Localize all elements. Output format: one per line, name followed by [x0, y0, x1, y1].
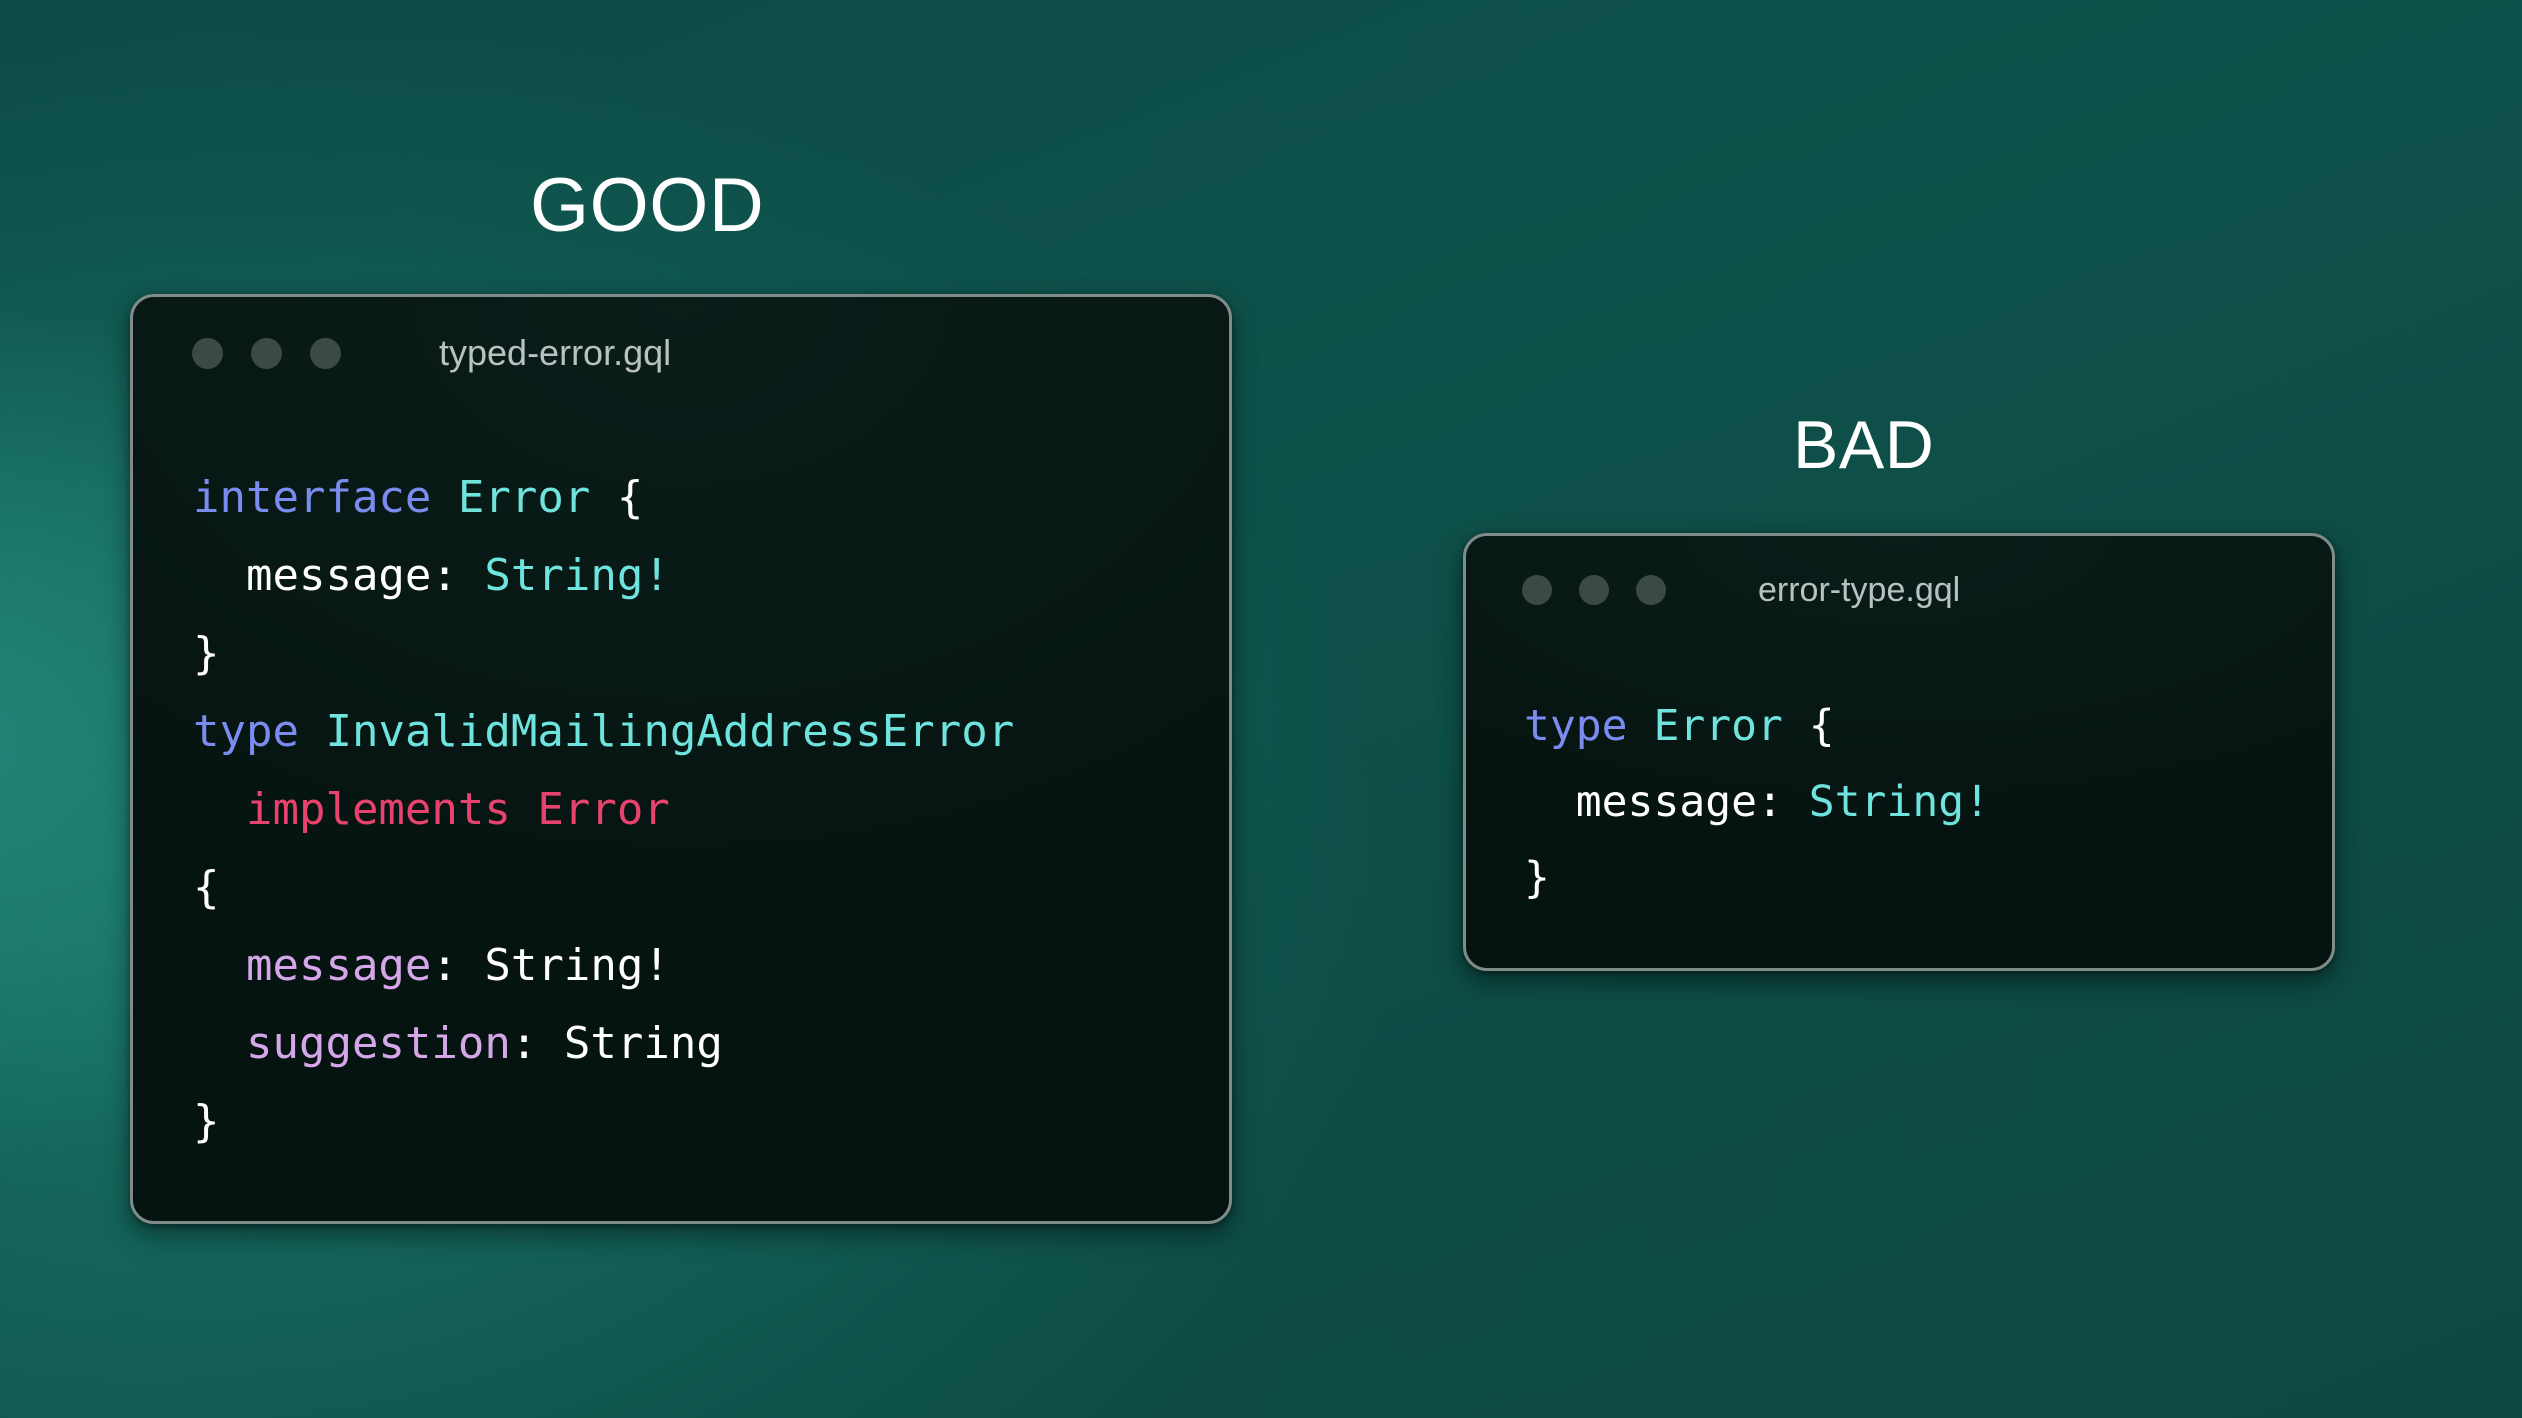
- code-token-keyword: interface: [193, 472, 431, 523]
- code-token-implements: implements Error: [246, 784, 670, 835]
- code-token-space: [590, 472, 617, 523]
- code-token-field-purple: suggestion: [246, 1018, 511, 1069]
- maximize-dot-icon[interactable]: [1636, 575, 1666, 605]
- code-token-scalar: String!: [484, 550, 669, 601]
- code-line: }: [1524, 840, 2332, 916]
- code-line: suggestion: String: [193, 1005, 1229, 1083]
- close-dot-icon[interactable]: [1522, 575, 1552, 605]
- code-token-keyword: type: [1524, 701, 1628, 751]
- code-token-space: [193, 550, 246, 601]
- heading-bad: BAD: [1793, 411, 1934, 479]
- code-line: type InvalidMailingAddressError: [193, 693, 1229, 771]
- code-line: {: [193, 849, 1229, 927]
- code-token-space: [1783, 701, 1809, 751]
- code-line: interface Error {: [193, 459, 1229, 537]
- code-token-punctuation: {: [193, 862, 220, 913]
- code-token-type: InvalidMailingAddressError: [325, 706, 1014, 757]
- minimize-dot-icon[interactable]: [251, 338, 282, 369]
- code-line: message: String!: [1524, 764, 2332, 840]
- code-token-space: [431, 472, 458, 523]
- code-token-punctuation: {: [617, 472, 644, 523]
- code-token-punctuation: :: [511, 1018, 564, 1069]
- code-token-punctuation: }: [1524, 853, 1550, 903]
- traffic-light-dots: [1522, 575, 1693, 605]
- code-token-type: Error: [458, 472, 590, 523]
- window-titlebar: typed-error.gql: [133, 297, 1229, 409]
- code-window-bad: error-type.gql type Error { message: Str…: [1463, 533, 2335, 971]
- code-token-space: [193, 1018, 246, 1069]
- traffic-light-dots: [192, 338, 369, 369]
- code-token-punctuation: }: [193, 1096, 220, 1147]
- window-titlebar: error-type.gql: [1466, 536, 2332, 644]
- code-token-keyword: type: [193, 706, 299, 757]
- code-block: interface Error { message: String!}type …: [133, 459, 1229, 1161]
- code-line: }: [193, 615, 1229, 693]
- code-line: message: String!: [193, 927, 1229, 1005]
- code-token-space: [193, 940, 246, 991]
- code-block: type Error { message: String!}: [1466, 688, 2332, 916]
- code-line: message: String!: [193, 537, 1229, 615]
- code-window-good: typed-error.gql interface Error { messag…: [130, 294, 1232, 1224]
- code-token-punctuation: {: [1809, 701, 1835, 751]
- minimize-dot-icon[interactable]: [1579, 575, 1609, 605]
- code-line: implements Error: [193, 771, 1229, 849]
- code-token-space: [1628, 701, 1654, 751]
- code-token-punctuation: String: [564, 1018, 723, 1069]
- code-token-field: message: [246, 550, 431, 601]
- window-title: typed-error.gql: [439, 332, 671, 374]
- code-token-punctuation: }: [193, 628, 220, 679]
- code-line: }: [193, 1083, 1229, 1161]
- code-token-field: message: [1576, 777, 1757, 827]
- maximize-dot-icon[interactable]: [310, 338, 341, 369]
- heading-good: GOOD: [530, 168, 764, 244]
- code-token-space: [1524, 777, 1576, 827]
- code-token-space: [193, 784, 246, 835]
- code-token-punctuation: :: [431, 940, 484, 991]
- code-token-punctuation: :: [431, 550, 484, 601]
- code-token-punctuation: String!: [484, 940, 669, 991]
- window-title: error-type.gql: [1758, 571, 1960, 610]
- code-token-field-purple: message: [246, 940, 431, 991]
- code-token-space: [299, 706, 326, 757]
- code-line: type Error {: [1524, 688, 2332, 764]
- code-token-scalar: String!: [1809, 777, 1990, 827]
- code-token-type: Error: [1653, 701, 1782, 751]
- close-dot-icon[interactable]: [192, 338, 223, 369]
- code-token-punctuation: :: [1757, 777, 1809, 827]
